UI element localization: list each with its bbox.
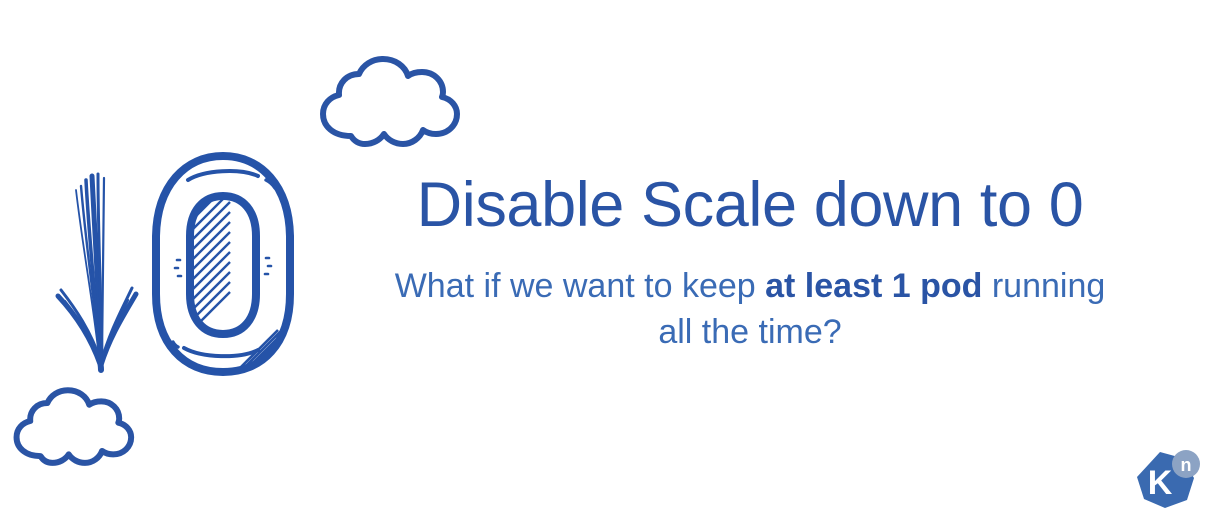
cloud-icon	[8, 382, 138, 472]
logo-letter-k: K	[1148, 464, 1173, 502]
brand-logo: K n	[1128, 444, 1204, 520]
subtitle-emphasis: at least 1 pod	[765, 267, 982, 305]
page-subtitle: What if we want to keep at least 1 pod r…	[385, 263, 1115, 357]
cloud-icon	[313, 52, 465, 152]
page-title: Disable Scale down to 0	[330, 170, 1170, 241]
text-block: Disable Scale down to 0 What if we want …	[330, 170, 1170, 356]
slide-canvas: Disable Scale down to 0 What if we want …	[0, 0, 1212, 525]
arrow-down-icon	[52, 168, 148, 378]
logo-letter-n: n	[1181, 455, 1192, 475]
subtitle-part-1: What if we want to keep	[395, 267, 765, 305]
hand-drawn-zero-icon	[144, 148, 302, 380]
